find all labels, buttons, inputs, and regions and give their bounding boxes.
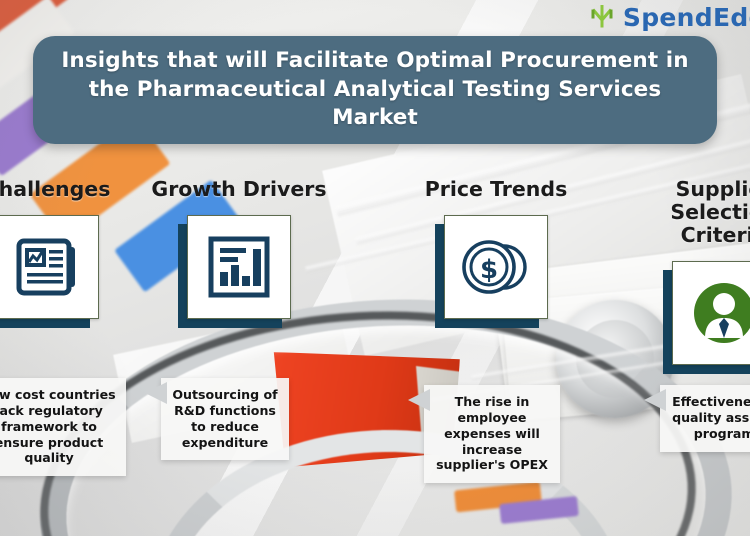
icon-box-challenges[interactable] <box>0 215 99 319</box>
infographic-canvas: SpendEdge Insights that will Facilitate … <box>0 0 750 536</box>
icon-box-price-trends[interactable]: $ <box>444 215 548 319</box>
callout-text-challenges: Low cost countries lack regulatory frame… <box>0 387 116 465</box>
icon-box-supplier-selection-criteria[interactable] <box>672 261 750 365</box>
callout-challenges: Low cost countries lack regulatory frame… <box>0 378 126 476</box>
page-title: Insights that will Facilitate Optimal Pr… <box>33 47 717 133</box>
column-title-challenges: Challenges <box>0 178 132 201</box>
dollar-coins-icon: $ <box>461 235 531 299</box>
callout-price-trends: The rise in employee expenses will incre… <box>424 385 560 483</box>
svg-text:$: $ <box>480 255 498 285</box>
document-report-icon <box>13 233 81 301</box>
column-supplier-selection-criteria: Supplier Selection Criteria <box>634 178 750 365</box>
icon-wrap-challenges <box>0 215 99 319</box>
callout-text-supplier-selection-criteria: Effectiveness of a quality assurance pro… <box>672 394 750 441</box>
user-profile-tie-icon <box>689 278 750 348</box>
column-challenges: Challenges <box>0 178 132 319</box>
icon-wrap-supplier-selection-criteria <box>672 261 750 365</box>
icon-box-growth-drivers[interactable] <box>187 215 291 319</box>
icon-wrap-growth-drivers <box>187 215 291 319</box>
callout-text-price-trends: The rise in employee expenses will incre… <box>436 394 548 472</box>
bar-chart-icon <box>206 234 272 300</box>
column-title-growth-drivers: Growth Drivers <box>148 178 330 201</box>
callout-supplier-selection-criteria: Effectiveness of a quality assurance pro… <box>660 385 750 452</box>
column-title-supplier-selection-criteria: Supplier Selection Criteria <box>634 178 750 247</box>
callout-text-growth-drivers: Outsourcing of R&D functions to reduce e… <box>172 387 277 450</box>
title-banner: Insights that will Facilitate Optimal Pr… <box>33 36 717 144</box>
column-price-trends: Price Trends $ <box>406 178 586 319</box>
column-title-price-trends: Price Trends <box>406 178 586 201</box>
callout-growth-drivers: Outsourcing of R&D functions to reduce e… <box>161 378 289 460</box>
column-growth-drivers: Growth Drivers <box>148 178 330 319</box>
brand-name: SpendEdge <box>623 3 750 32</box>
spendedge-trident-logo-icon <box>587 2 617 32</box>
icon-wrap-price-trends: $ <box>444 215 548 319</box>
brand-logo: SpendEdge <box>587 2 750 32</box>
